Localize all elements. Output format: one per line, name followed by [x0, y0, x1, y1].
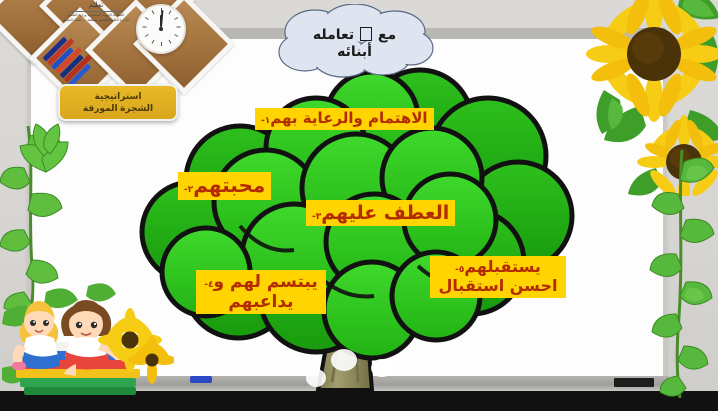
note-3-number: ٣-: [312, 212, 321, 222]
clock-center-pin: [159, 27, 163, 31]
whiteboard-eraser: [614, 378, 654, 387]
note-1-text: الاهتمام والرعاية بهم: [270, 109, 427, 127]
note-item-4[interactable]: يبتسم لهم و٤- يداعبهم: [196, 270, 326, 314]
note-2-number: ٢-: [184, 185, 193, 195]
cloud-word-maa: مع: [378, 27, 396, 43]
plaque-line-2: الشجرة المورقة: [66, 102, 170, 114]
note-1-number: ١-: [261, 116, 270, 126]
logo-divider: [69, 11, 123, 12]
note-item-5[interactable]: يستقبلهم٥- احسن استقبال: [430, 256, 566, 298]
cloud-line-2: أبنائه: [337, 44, 372, 60]
presentation-slide: مع تعامله أبنائه الاهتمام والرعاية بهم١-…: [0, 0, 718, 411]
logo-mark-text: تعليم: [63, 2, 129, 9]
note-3-text: العطف عليهم: [321, 202, 449, 224]
plaque-line-1: استراتيجية: [66, 90, 170, 102]
note-4-line-1: يبتسم لهم و٤-: [200, 272, 322, 292]
cloud-word-taamuluh: تعامله: [313, 27, 354, 43]
note-2-text: محبتهم: [193, 173, 265, 197]
note-5-line-2: احسن استقبال: [434, 277, 562, 296]
note-item-3[interactable]: العطف عليهم٣-: [306, 200, 455, 226]
cloud-line-1: مع تعامله: [313, 27, 396, 43]
wall-clock: [136, 4, 186, 54]
note-5-text-1: يستقبلهم: [464, 257, 541, 276]
note-4-number: ٤-: [204, 280, 213, 290]
note-5-line-1: يستقبلهم٥-: [434, 258, 562, 277]
logo-line-2: الإدارة العامة للتعليم بمنطقة ... مكتب ا…: [63, 18, 129, 23]
ministry-logo: تعليم المملكة العربية السعودية وزارة الت…: [63, 2, 129, 36]
note-4-line-2: يداعبهم: [200, 292, 322, 312]
missing-glyph-icon: [360, 27, 372, 41]
strategy-plaque[interactable]: استراتيجية الشجرة المورقة: [58, 84, 178, 121]
note-item-2[interactable]: محبتهم٢-: [178, 172, 271, 200]
two-children-on-books: [2, 282, 174, 411]
note-5-number: ٥-: [455, 265, 464, 275]
note-item-1[interactable]: الاهتمام والرعاية بهم١-: [255, 108, 434, 130]
thought-cloud: مع تعامله أبنائه: [271, 4, 438, 78]
note-4-text-1: يبتسم لهم و: [214, 272, 318, 292]
cloud-text: مع تعامله أبنائه: [271, 4, 438, 78]
